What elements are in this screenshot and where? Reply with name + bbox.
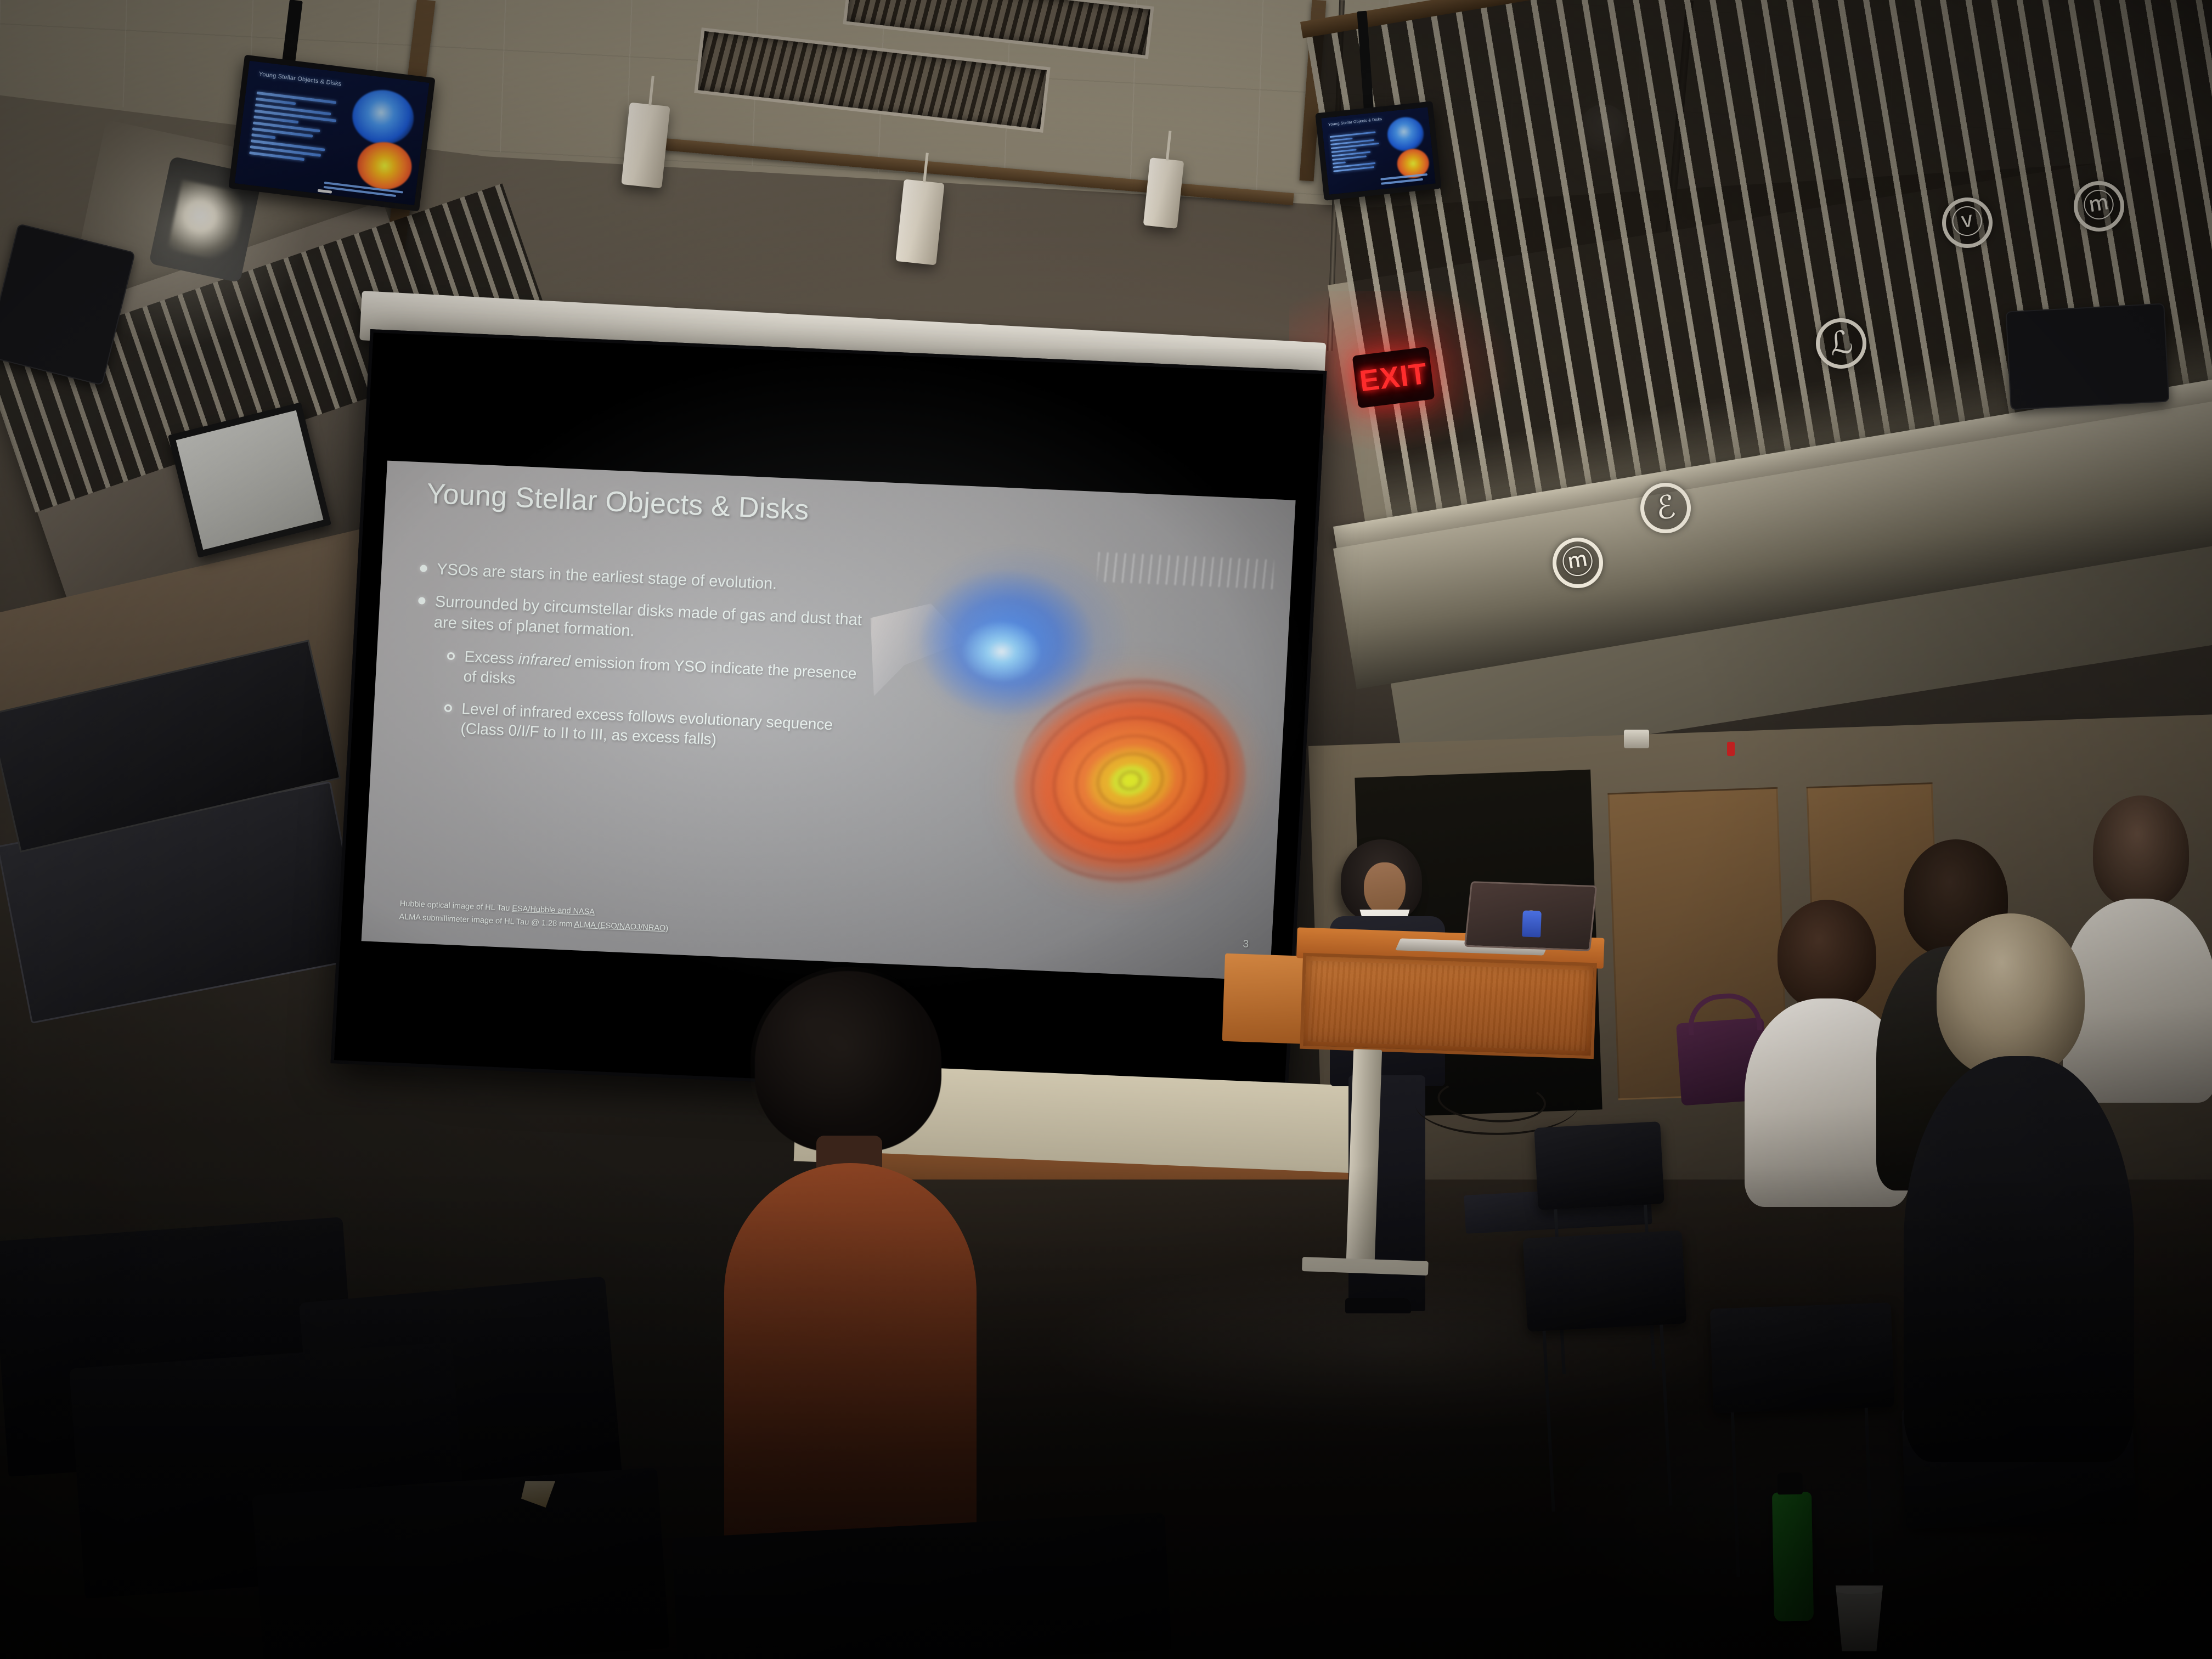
bullet-dot-icon <box>418 597 426 605</box>
pendant-light-icon <box>621 103 670 189</box>
monitor-credits <box>1380 173 1430 187</box>
slide-credits: Hubble optical image of HL Tau ESA/Hubbl… <box>399 898 1072 953</box>
podium-front-panel <box>1300 953 1597 1059</box>
subbullet-prefix: Excess <box>464 648 519 667</box>
slide-subbullet-text: Excess infrared emission from YSO indica… <box>463 647 870 704</box>
presenter-face <box>1364 862 1406 915</box>
lecture-hall-scene: ⓜ ℰ ℒ ⓥ ⓜ EXIT Young Stellar Objects & D… <box>0 0 2212 1659</box>
chair[interactable] <box>1710 1302 1894 1413</box>
slide-bullet: YSOs are stars in the earliest stage of … <box>419 558 874 599</box>
chair[interactable] <box>1534 1121 1664 1210</box>
bullet-circle-icon <box>447 652 455 660</box>
chair-legs <box>1543 1324 1673 1511</box>
monitor-screen: Young Stellar Objects & Disks <box>235 61 430 206</box>
audience-head <box>1778 900 1876 1009</box>
pendant-light-icon <box>1143 157 1184 229</box>
exit-sign: EXIT <box>1352 347 1435 408</box>
credit-hubble-source: ESA/Hubble and NASA <box>512 905 595 917</box>
water-bottle <box>1772 1492 1814 1621</box>
slide-bullet-text: Surrounded by circumstellar disks made o… <box>433 592 873 652</box>
monitor-alma-image <box>354 139 414 192</box>
slide-subbullet-text: Level of infrared excess follows evoluti… <box>460 698 867 756</box>
slide-number: 3 <box>1243 939 1249 951</box>
monitor-text-lines <box>249 92 343 168</box>
slide-bullet-text: YSOs are stars in the earliest stage of … <box>436 559 777 595</box>
pendant-light-icon <box>895 179 944 266</box>
slide-subbullet: Excess infrared emission from YSO indica… <box>445 646 870 704</box>
audience-head <box>1937 913 2085 1078</box>
spotlight-glow <box>167 180 246 263</box>
subbullet-emphasis: infrared <box>518 650 571 669</box>
exit-sign-label: EXIT <box>1358 357 1430 399</box>
slide-bullet: Surrounded by circumstellar disks made o… <box>416 591 873 652</box>
presentation-slide: Young Stellar Objects & Disks YSOs are s… <box>362 461 1296 980</box>
confidence-monitor-right: Young Stellar Objects & Disks <box>1315 101 1442 201</box>
slide-bullet-list: YSOs are stars in the earliest stage of … <box>410 558 874 768</box>
monitor-hubble-image <box>349 86 417 148</box>
hl-tau-figure <box>856 521 1275 903</box>
audience-body <box>1904 1056 2134 1462</box>
confidence-monitor-left: Young Stellar Objects & Disks <box>228 55 435 212</box>
presenter-shoe <box>1345 1298 1411 1313</box>
foreground-attendee-hair <box>755 971 941 1152</box>
audience-head <box>2093 795 2189 908</box>
auditorium-seat[interactable] <box>672 1513 1172 1659</box>
monitor-screen: Young Stellar Objects & Disks <box>1321 107 1436 195</box>
bullet-circle-icon <box>444 704 452 712</box>
credit-alma-source: ALMA (ESO/NAOJ/NRAO) <box>574 920 668 933</box>
slide-subbullet: Level of infrared excess follows evoluti… <box>443 698 867 756</box>
strobe-light-icon <box>1727 742 1735 756</box>
slide-title: Young Stellar Objects & Disks <box>426 477 810 526</box>
monitor-slide-title: Young Stellar Objects & Disks <box>1328 117 1383 127</box>
monitor-slide-title: Young Stellar Objects & Disks <box>258 71 342 87</box>
balcony-speaker-icon <box>2005 303 2169 410</box>
chair[interactable] <box>1523 1231 1686 1332</box>
monitor-hubble-image <box>1386 115 1425 153</box>
audience-member <box>1904 913 2134 1462</box>
auditorium-seat[interactable] <box>252 1468 669 1659</box>
smoke-detector-icon <box>1624 730 1649 748</box>
monitor-text-lines <box>1329 131 1384 174</box>
bullet-dot-icon <box>420 565 427 572</box>
presenter-water-bottle <box>1522 910 1542 937</box>
